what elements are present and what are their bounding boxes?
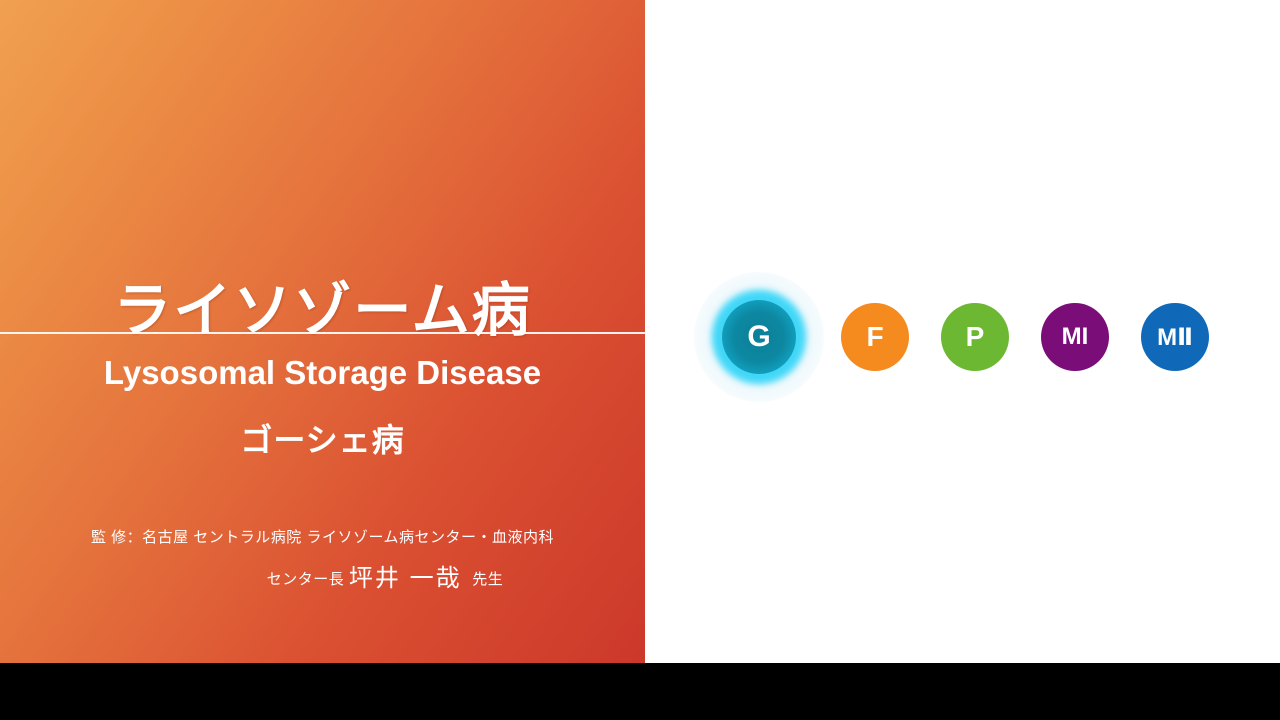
credit-supervisor-affiliation: 監 修：名古屋 セントラル病院 ライソゾーム病センター・血液内科 [0, 527, 645, 550]
logo-circle-fabry-icon: F [841, 303, 909, 371]
disease-logo-mps-two: MⅡ [1125, 272, 1225, 402]
subtitle-english: Lysosomal Storage Disease [0, 354, 645, 392]
subtitle-japanese: ゴーシェ病 [0, 415, 645, 461]
logo-area: GFPMIMⅡ [645, 0, 1280, 663]
credits-block: 監 修：名古屋 セントラル病院 ライソゾーム病センター・血液内科 センター長 坪… [0, 527, 645, 595]
logo-circle-pompe-icon: P [941, 303, 1009, 371]
disease-logo-gaucher: G [693, 272, 825, 402]
logo-circle-mps-one-icon: MI [1041, 303, 1109, 371]
logo-label: MI [1062, 323, 1089, 351]
logo-label: MⅡ [1157, 323, 1193, 352]
credit-role: センター長 [267, 571, 345, 588]
letterbox-bottom-bar [0, 663, 1280, 720]
disease-logo-mps-one: MI [1025, 272, 1125, 402]
credit-supervisor-name-row: センター長 坪井 一哉 先生 [0, 562, 645, 596]
logo-label: G [747, 320, 770, 354]
logo-circle-mps-two-icon: MⅡ [1141, 303, 1209, 371]
logo-circle-gaucher-icon: G [722, 300, 796, 374]
disease-logo-pompe: P [925, 272, 1025, 402]
credit-name: 坪井 一哉 [349, 565, 462, 592]
logo-label: P [966, 321, 985, 353]
credit-honorific: 先生 [472, 571, 503, 588]
logo-label: F [866, 321, 883, 353]
slide-canvas: ライソゾーム病 Lysosomal Storage Disease ゴーシェ病 … [0, 0, 1280, 663]
slide-root: ライソゾーム病 Lysosomal Storage Disease ゴーシェ病 … [0, 0, 1280, 720]
disease-logo-fabry: F [825, 272, 925, 402]
title-divider [0, 332, 645, 334]
title-panel: ライソゾーム病 Lysosomal Storage Disease ゴーシェ病 … [0, 0, 645, 663]
disease-logo-row: GFPMIMⅡ [693, 272, 1233, 402]
